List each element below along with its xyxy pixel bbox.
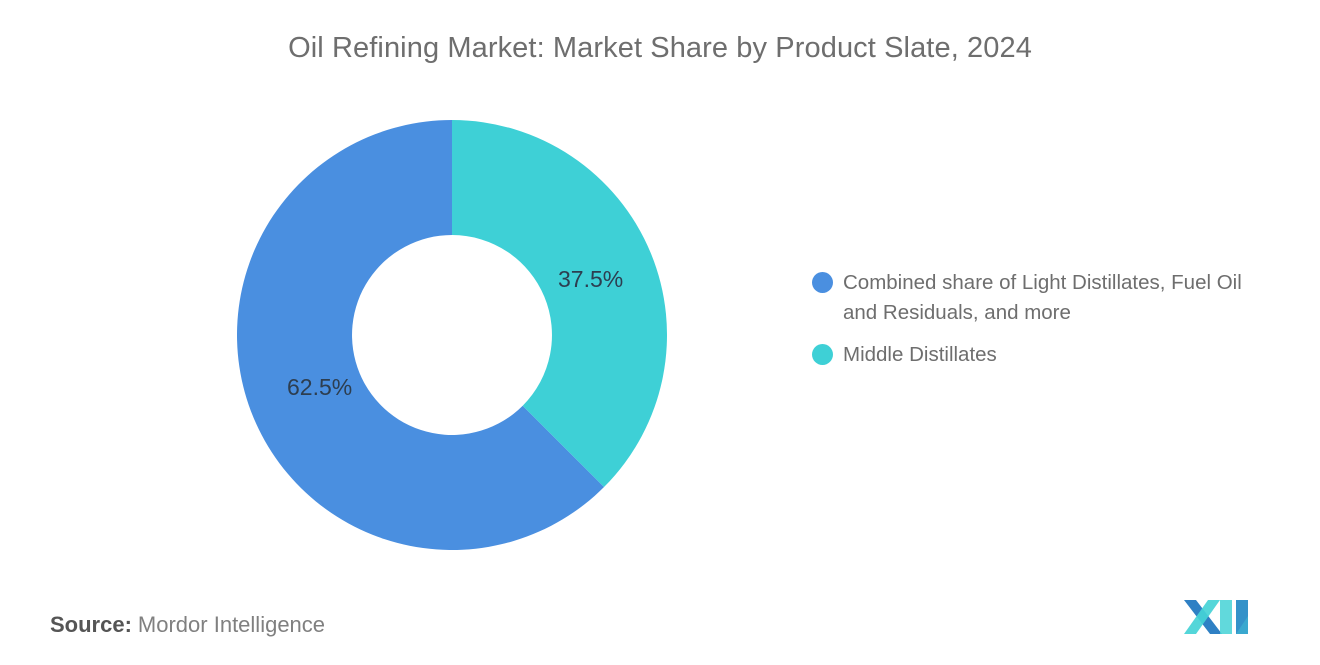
source-value: Mordor Intelligence [138, 612, 325, 637]
source-line: Source:Mordor Intelligence [50, 612, 325, 638]
mordor-intelligence-logo-icon [1182, 594, 1258, 638]
chart-legend: Combined share of Light Distillates, Fue… [812, 268, 1282, 382]
legend-item-combined-share[interactable]: Combined share of Light Distillates, Fue… [812, 268, 1282, 328]
source-label: Source: [50, 612, 132, 637]
legend-item-label: Middle Distillates [843, 340, 997, 370]
legend-color-swatch-icon [812, 344, 833, 365]
mordor-intelligence-logo [1182, 594, 1258, 638]
legend-item-middle-distillates[interactable]: Middle Distillates [812, 340, 1282, 370]
donut-chart-svg [237, 120, 667, 550]
chart-canvas: Oil Refining Market: Market Share by Pro… [0, 0, 1320, 665]
legend-item-label: Combined share of Light Distillates, Fue… [843, 268, 1268, 328]
donut-chart [237, 120, 667, 550]
slice-value-label-middle-distillates: 37.5% [558, 266, 623, 293]
page-title: Oil Refining Market: Market Share by Pro… [0, 28, 1320, 68]
legend-color-swatch-icon [812, 272, 833, 293]
slice-value-label-combined-share: 62.5% [287, 374, 352, 401]
